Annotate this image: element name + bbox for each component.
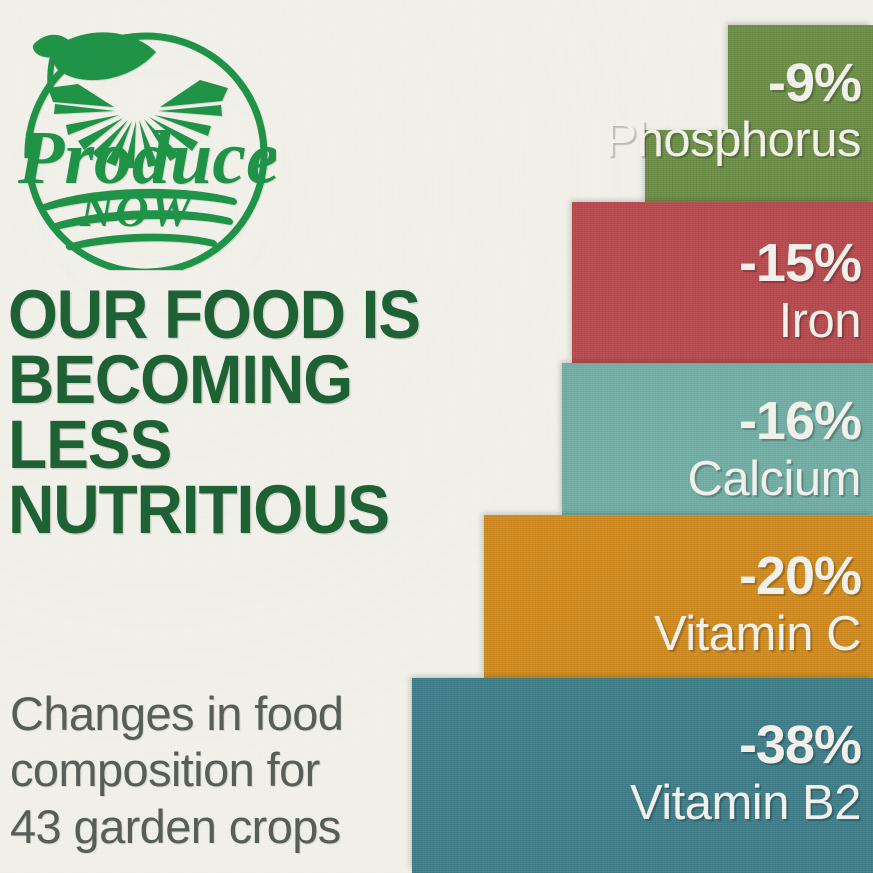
bar-value-vitamin-c: -20% xyxy=(654,549,861,603)
headline-line-4: NUTRITIOUS xyxy=(8,478,445,543)
subtitle-line-1: Changes in food xyxy=(10,686,410,742)
subtitle-line-2: composition for xyxy=(10,742,410,798)
bar-value-vitamin-b2: -38% xyxy=(630,718,861,772)
bar-name-vitamin-c: Vitamin C xyxy=(654,610,861,659)
produce-now-logo: Produce NOW xyxy=(8,8,276,270)
bar-label-group-vitamin-b2: -38% Vitamin B2 xyxy=(630,718,861,828)
bar-name-calcium: Calcium xyxy=(688,455,861,504)
headline-line-2: BECOMING xyxy=(8,348,445,413)
subtitle-line-3: 43 garden crops xyxy=(10,799,410,855)
bar-label-group-calcium: -16% Calcium xyxy=(688,394,861,504)
bar-label-group-iron: -15% Iron xyxy=(739,236,861,346)
bar-name-phosphorus: Phosphorus xyxy=(604,116,861,165)
bar-label-group-vitamin-c: -20% Vitamin C xyxy=(654,549,861,659)
bar-value-calcium: -16% xyxy=(688,394,861,448)
headline-line-1: OUR FOOD IS xyxy=(8,283,445,348)
bar-value-iron: -15% xyxy=(739,236,861,290)
bar-value-phosphorus: -9% xyxy=(604,56,861,110)
leaf-icon xyxy=(33,32,156,92)
headline-line-3: LESS xyxy=(8,413,445,478)
page-title: OUR FOOD IS BECOMING LESS NUTRITIOUS xyxy=(8,283,445,542)
bar-name-vitamin-b2: Vitamin B2 xyxy=(630,779,861,828)
page-subtitle: Changes in food composition for 43 garde… xyxy=(10,686,410,855)
bar-label-group-phosphorus: -9% Phosphorus xyxy=(604,56,861,165)
infographic-poster: Produce NOW OUR FOOD IS BECOMING LESS NU… xyxy=(0,0,873,873)
bar-name-iron: Iron xyxy=(739,297,861,346)
logo-wordmark-now: NOW xyxy=(79,185,194,236)
